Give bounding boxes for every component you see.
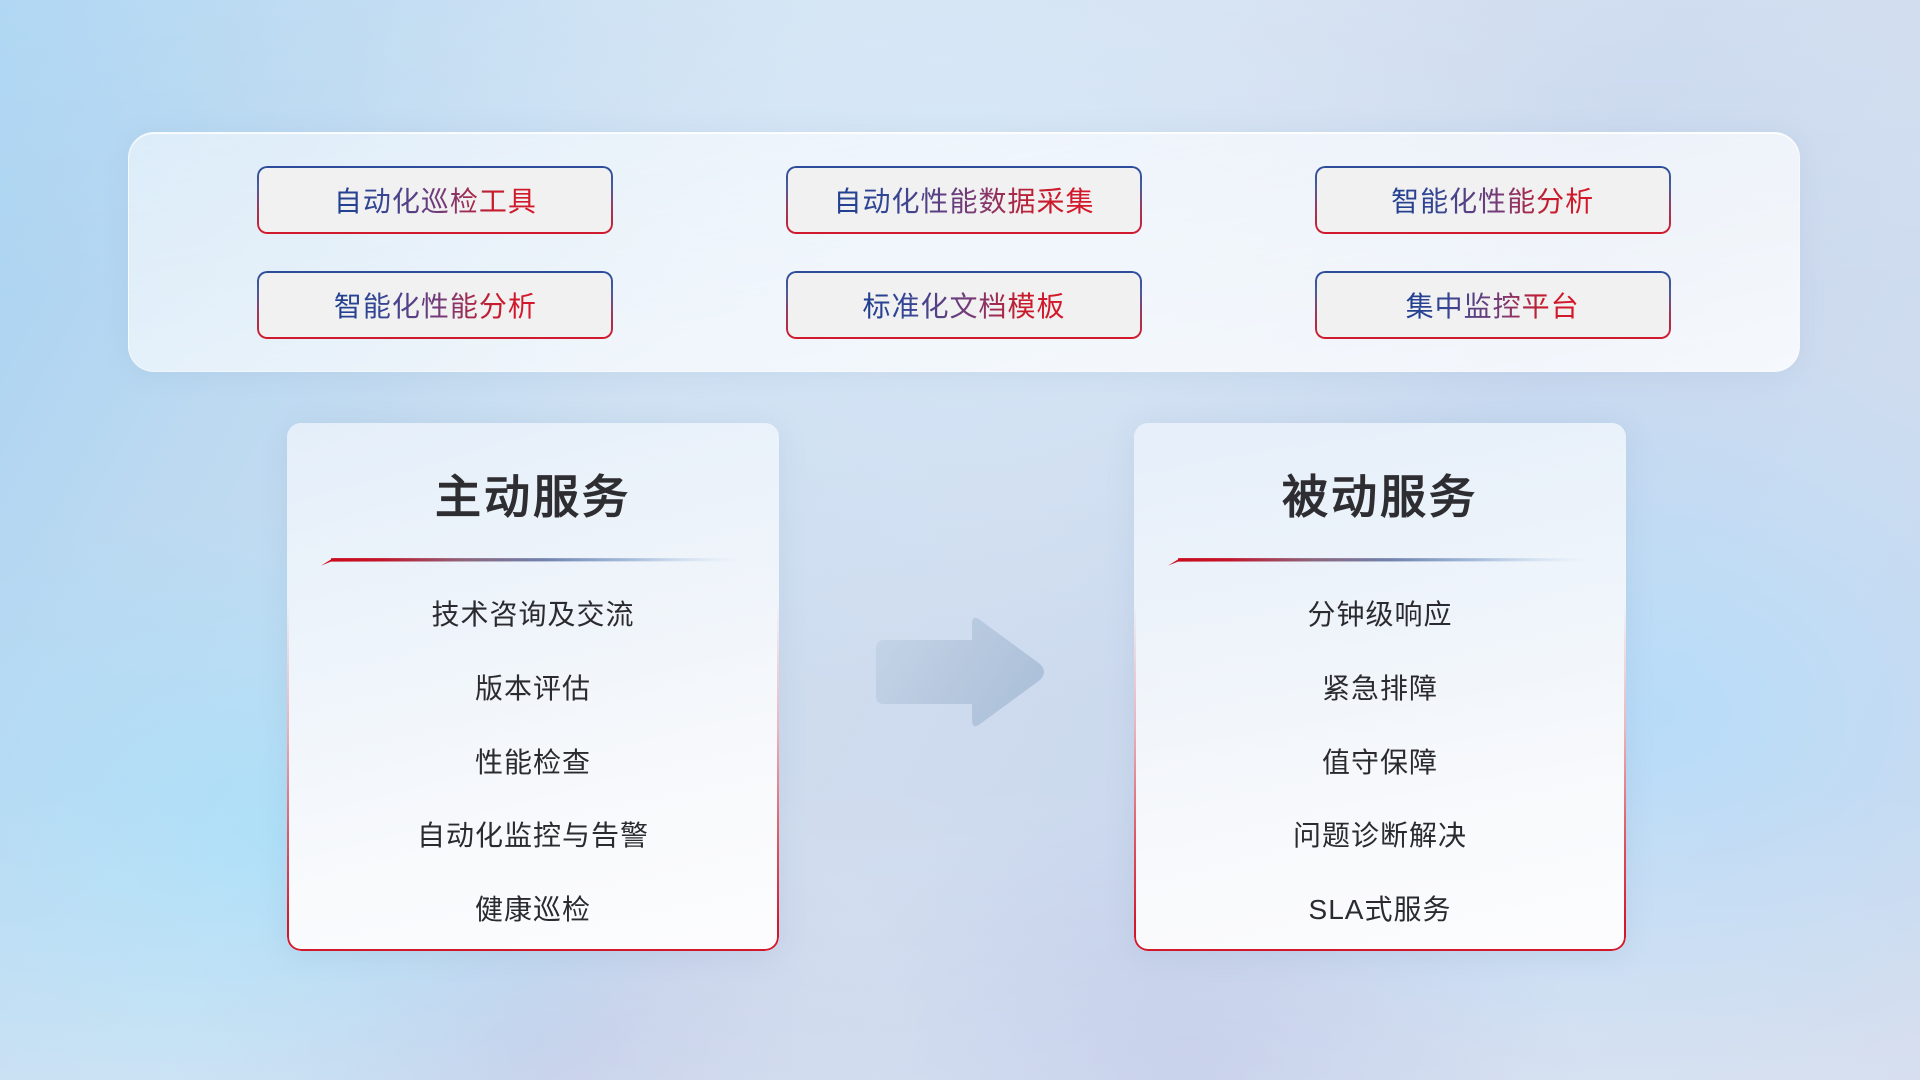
list-item: 问题诊断解决	[1134, 821, 1626, 852]
card-active-service-list: 技术咨询及交流 版本评估 性能检查 自动化监控与告警 健康巡检	[287, 566, 779, 926]
list-item: 技术咨询及交流	[287, 600, 779, 631]
list-item: SLA式服务	[1134, 895, 1626, 926]
card-passive-service: 被动服务 分钟级响应 紧急排障 值守保障 问题诊断解决 SLA式服务	[1134, 423, 1626, 951]
chip-standardized-document-template[interactable]: 标准化文档模板	[786, 271, 1142, 339]
list-item: 性能检查	[287, 748, 779, 779]
card-passive-service-list: 分钟级响应 紧急排障 值守保障 问题诊断解决 SLA式服务	[1134, 566, 1626, 926]
chip-label: 标准化文档模板	[862, 285, 1065, 325]
chip-label: 自动化巡检工具	[334, 180, 537, 220]
chip-intelligent-performance-analysis-2[interactable]: 智能化性能分析	[257, 271, 613, 339]
list-item: 紧急排障	[1134, 674, 1626, 705]
card-title: 被动服务	[1134, 461, 1626, 527]
list-item: 自动化监控与告警	[287, 821, 779, 852]
chip-automated-performance-data-collection[interactable]: 自动化性能数据采集	[786, 166, 1142, 234]
list-item: 值守保障	[1134, 748, 1626, 779]
list-item: 分钟级响应	[1134, 600, 1626, 631]
card-active-service: 主动服务 技术咨询及交流 版本评估 性能检查 自动化监控与告警 健康巡检	[287, 423, 779, 951]
chip-label: 智能化性能分析	[1391, 180, 1594, 220]
chip-centralized-monitoring-platform[interactable]: 集中监控平台	[1315, 271, 1671, 339]
arrow-right-icon	[868, 612, 1048, 732]
chip-label: 集中监控平台	[1406, 285, 1580, 325]
list-item: 健康巡检	[287, 895, 779, 926]
capabilities-panel: 自动化巡检工具 自动化性能数据采集 智能化性能分析 智能化性能分析 标准化文档模…	[128, 132, 1800, 372]
chip-label: 智能化性能分析	[334, 285, 537, 325]
card-divider	[1168, 557, 1592, 566]
list-item: 版本评估	[287, 674, 779, 705]
card-title: 主动服务	[287, 461, 779, 527]
chip-intelligent-performance-analysis[interactable]: 智能化性能分析	[1315, 166, 1671, 234]
card-divider	[321, 557, 745, 566]
chip-label: 自动化性能数据采集	[833, 180, 1094, 220]
chip-automated-inspection-tool[interactable]: 自动化巡检工具	[257, 166, 613, 234]
